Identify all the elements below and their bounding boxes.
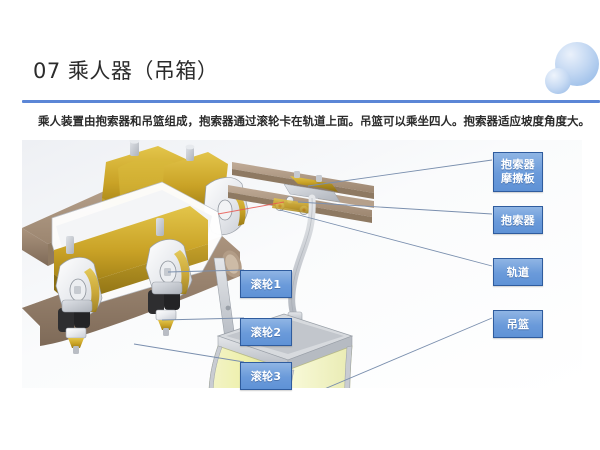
callout-gunlun2-label: 滚轮2 <box>251 326 282 339</box>
callout-baosuoqi-label: 抱索器 <box>501 214 535 227</box>
callout-guidao-label: 轨道 <box>507 266 530 279</box>
callout-baosuoqi-moca-ban-line1: 抱索器 <box>501 158 535 172</box>
callout-gunlun1[interactable]: 滚轮1 <box>240 270 292 298</box>
callout-gunlun3[interactable]: 滚轮3 <box>240 362 292 390</box>
page-title: 07 乘人器（吊箱） <box>33 58 218 84</box>
callout-gunlun1-label: 滚轮1 <box>251 278 282 291</box>
slide-canvas: 07 乘人器（吊箱） 乘人装置由抱索器和吊篮组成，抱索器通过滚轮卡在轨道上面。吊… <box>0 0 600 450</box>
callout-gunlun2[interactable]: 滚轮2 <box>240 318 292 346</box>
small-blue-circle <box>545 68 571 94</box>
callout-guidao[interactable]: 轨道 <box>493 258 543 286</box>
callout-diaolan-label: 吊篮 <box>507 318 530 331</box>
callout-baosuoqi[interactable]: 抱索器 <box>493 206 543 234</box>
header-decoration <box>520 34 600 104</box>
slide-subtitle: 乘人装置由抱索器和吊篮组成，抱索器通过滚轮卡在轨道上面。吊篮可以乘坐四人。抱索器… <box>38 113 583 129</box>
callout-gunlun3-label: 滚轮3 <box>251 370 282 383</box>
large-blue-circle <box>555 42 599 86</box>
callout-baosuoqi-moca-ban-line2: 摩擦板 <box>501 172 535 186</box>
callout-baosuoqi-moca-ban[interactable]: 抱索器 摩擦板 <box>493 152 543 192</box>
callout-diaolan[interactable]: 吊篮 <box>493 310 543 338</box>
title-divider <box>22 100 600 103</box>
